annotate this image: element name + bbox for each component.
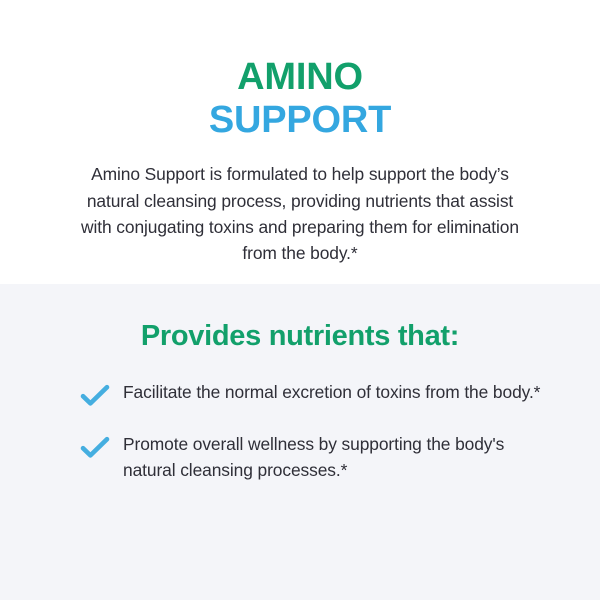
page-title: AMINO SUPPORT	[0, 0, 600, 141]
list-item: Promote overall wellness by supporting t…	[0, 431, 600, 483]
hero-section: AMINO SUPPORT Amino Support is formulate…	[0, 0, 600, 284]
check-icon	[80, 435, 110, 461]
list-item-label: Facilitate the normal excretion of toxin…	[123, 379, 540, 405]
product-info-page: AMINO SUPPORT Amino Support is formulate…	[0, 0, 600, 600]
check-icon	[80, 383, 110, 409]
intro-paragraph: Amino Support is formulated to help supp…	[0, 141, 600, 267]
benefits-list: Facilitate the normal excretion of toxin…	[0, 353, 600, 483]
list-item-label: Promote overall wellness by supporting t…	[123, 431, 544, 483]
benefits-section: Provides nutrients that: Facilitate the …	[0, 284, 600, 600]
benefits-heading: Provides nutrients that:	[0, 284, 600, 353]
list-item: Facilitate the normal excretion of toxin…	[0, 379, 600, 409]
page-title-line-2: SUPPORT	[0, 99, 600, 142]
page-title-line-1: AMINO	[0, 56, 600, 99]
